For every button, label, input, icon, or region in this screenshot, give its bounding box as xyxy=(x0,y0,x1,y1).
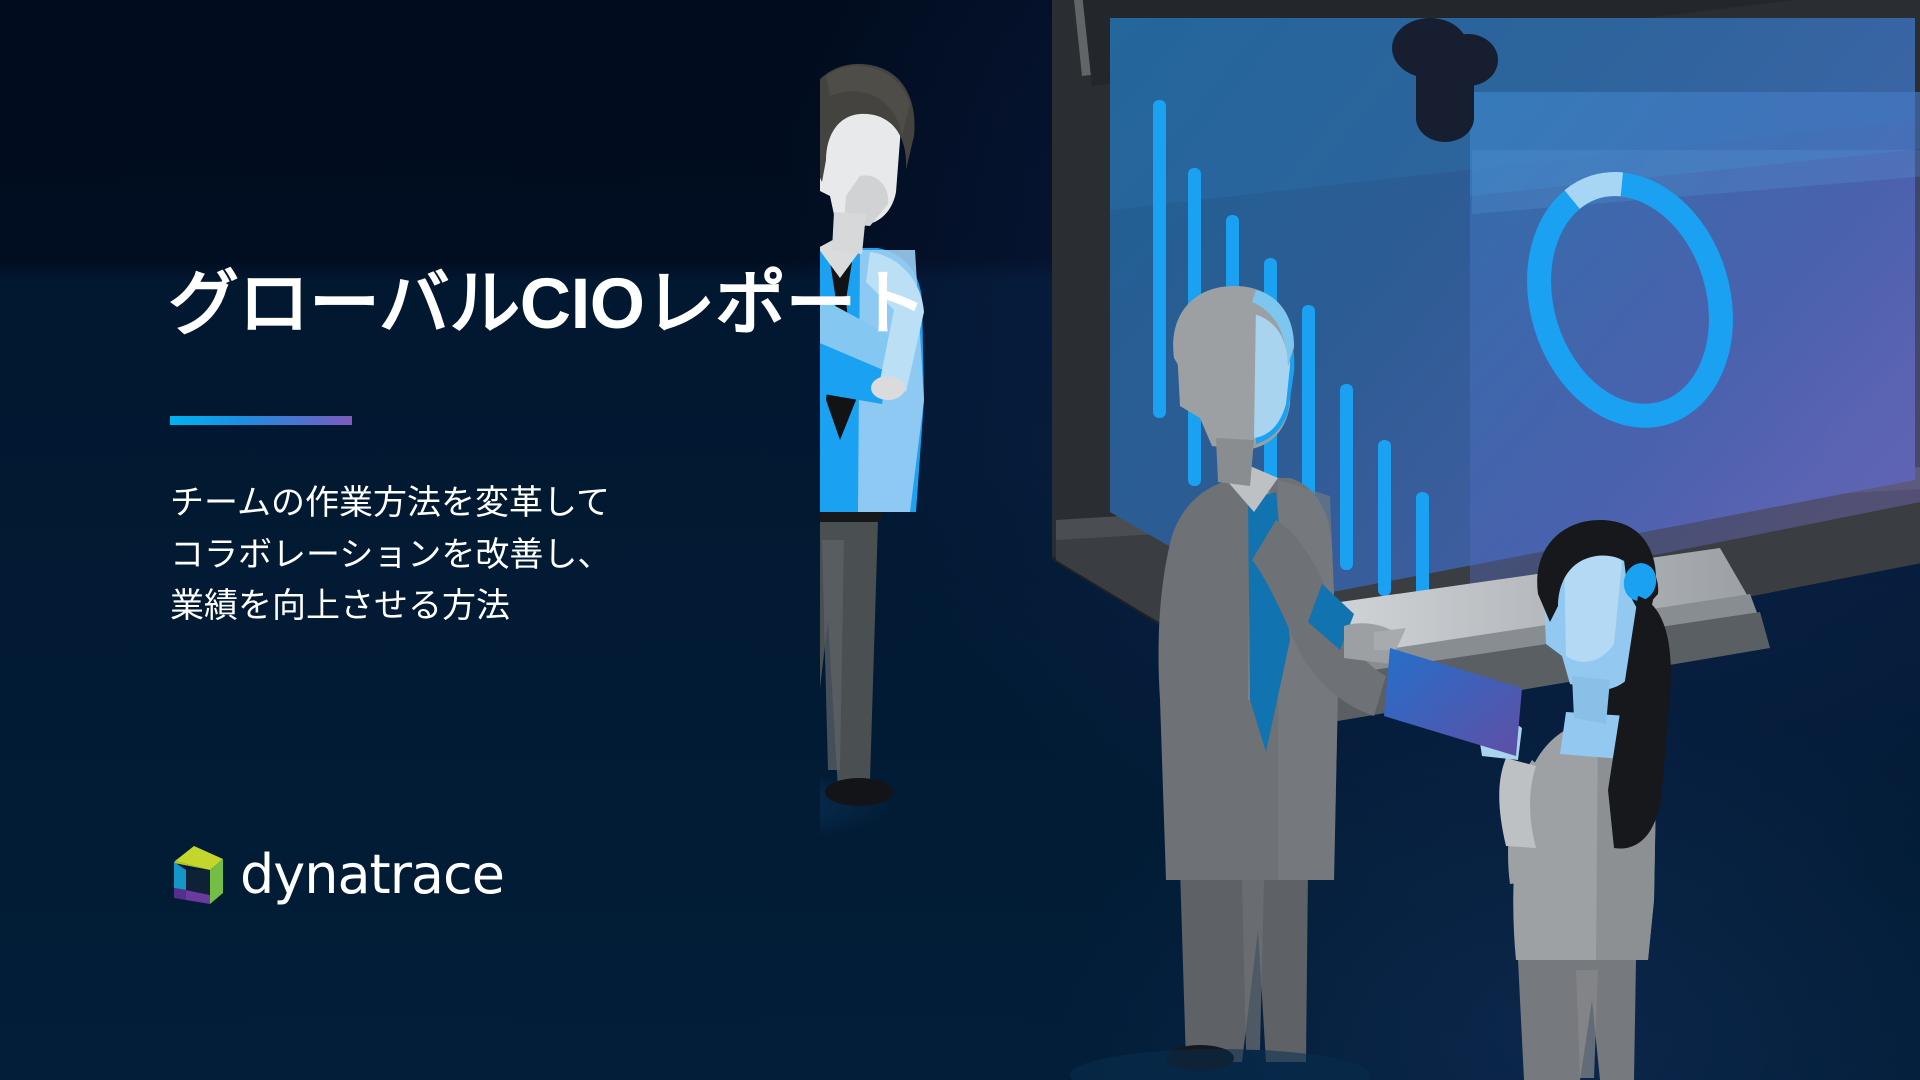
page-title: グローバルCIOレポート xyxy=(168,268,927,343)
brand-wordmark: dynatrace xyxy=(240,848,504,902)
background-glow-bottom xyxy=(1056,680,1920,1080)
text-column: グローバルCIOレポート チームの作業方法を変革して コラボレーションを改善し、… xyxy=(168,0,908,1080)
slide-canvas: グローバルCIOレポート チームの作業方法を変革して コラボレーションを改善し、… xyxy=(0,0,1920,1080)
dynatrace-logo: dynatrace xyxy=(162,843,504,907)
subtitle-line-3: 業績を向上させる方法 xyxy=(170,581,611,633)
dynatrace-cube-icon xyxy=(162,843,226,907)
subtitle: チームの作業方法を変革して コラボレーションを改善し、 業績を向上させる方法 xyxy=(170,478,611,633)
subtitle-line-1: チームの作業方法を変革して xyxy=(170,478,611,530)
accent-divider xyxy=(170,416,352,425)
subtitle-line-2: コラボレーションを改善し、 xyxy=(170,530,611,582)
